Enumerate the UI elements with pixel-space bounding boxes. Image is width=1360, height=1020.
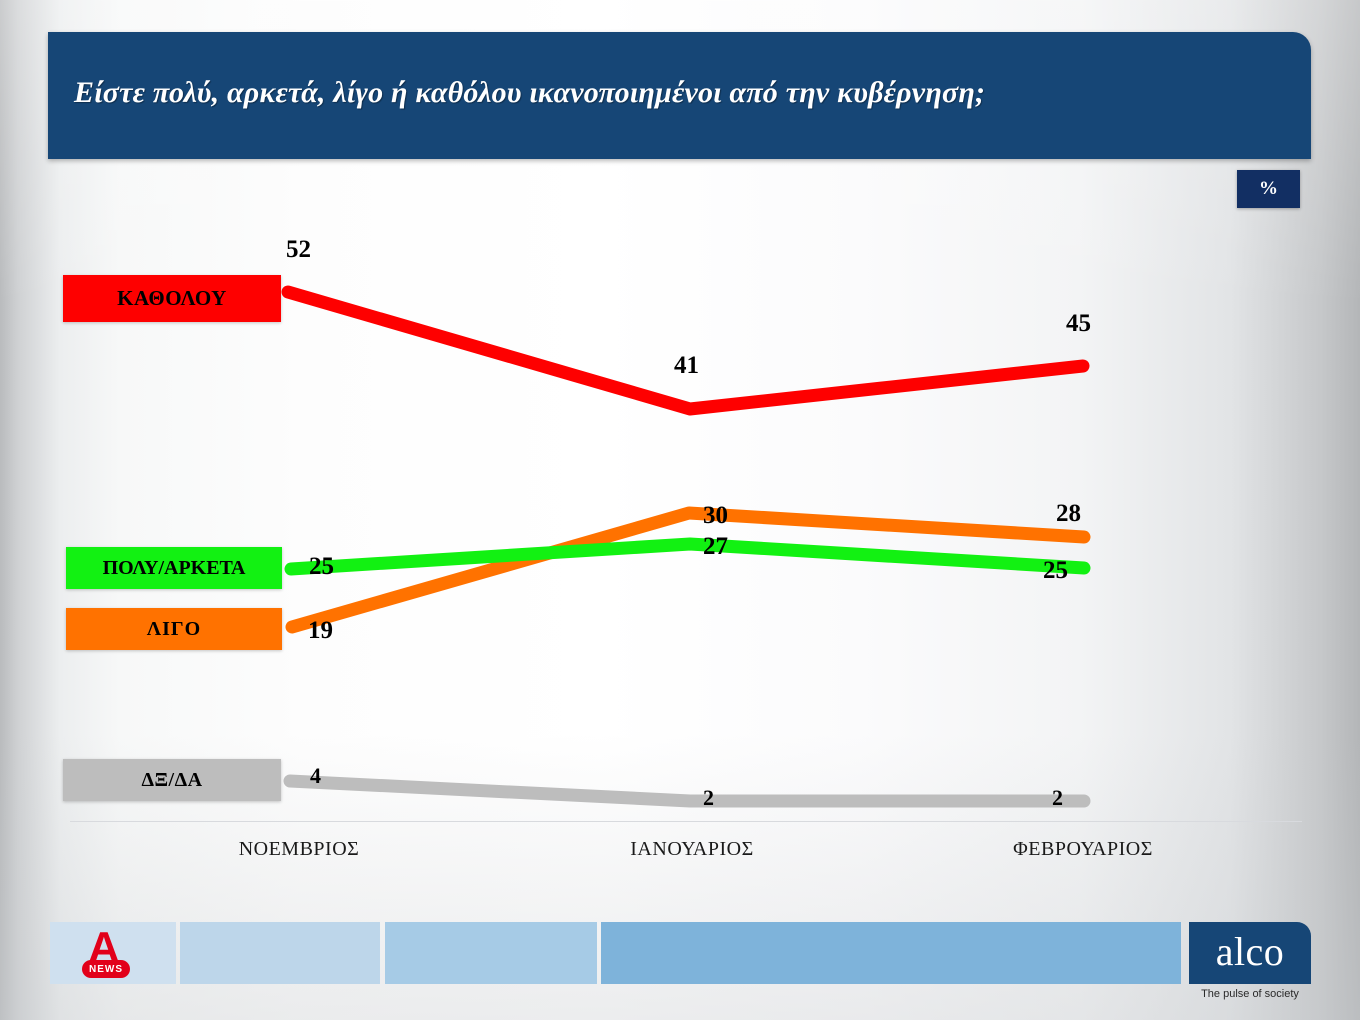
- page-title: Είστε πολύ, αρκετά, λίγο ή καθόλου ικανο…: [74, 76, 1291, 110]
- footer-bar-2: [180, 922, 380, 984]
- unit-badge: %: [1237, 170, 1300, 208]
- footer-bar-3: [385, 922, 597, 984]
- value-label-katholou-feb: 45: [1066, 310, 1091, 338]
- legend-label-ligo: ΛΙΓΟ: [147, 618, 201, 641]
- series-line-poly-arketa: [291, 544, 1084, 569]
- value-label-dxda-jan: 2: [703, 785, 714, 811]
- legend-label-katholou: ΚΑΘΟΛΟΥ: [117, 286, 227, 311]
- slide-canvas: Είστε πολύ, αρκετά, λίγο ή καθόλου ικανο…: [0, 0, 1360, 1020]
- legend-label-dxda: ΔΞ/ΔΑ: [141, 769, 202, 792]
- series-line-ligo: [292, 513, 1084, 627]
- axis-baseline: [70, 821, 1302, 822]
- anews-news-badge: NEWS: [82, 960, 130, 978]
- x-axis-label-fevrouarios: ΦΕΒΡΟΥΑΡΙΟΣ: [1013, 838, 1153, 861]
- footer-bar-4: [601, 922, 1181, 984]
- value-label-ligo-nov: 19: [308, 617, 333, 645]
- value-label-dxda-feb: 2: [1052, 785, 1063, 811]
- value-label-poly-nov: 25: [309, 553, 334, 581]
- legend-chip-dxda[interactable]: ΔΞ/ΔΑ: [63, 759, 281, 801]
- legend-chip-ligo[interactable]: ΛΙΓΟ: [66, 608, 282, 650]
- value-label-katholou-jan: 41: [674, 352, 699, 380]
- legend-chip-poly-arketa[interactable]: ΠΟΛΥ/ΑΡΚΕΤΑ: [66, 547, 282, 589]
- series-line-dxda: [290, 781, 1084, 801]
- value-label-katholou-nov: 52: [286, 236, 311, 264]
- x-axis-label-noemvrios: ΝΟΕΜΒΡΙΟΣ: [239, 838, 360, 861]
- x-axis-label-ianouarios: ΙΑΝΟΥΑΡΙΟΣ: [630, 838, 753, 861]
- value-label-ligo-jan: 30: [703, 502, 728, 530]
- alco-logo-text: alco: [1189, 928, 1311, 976]
- anews-logo: A NEWS: [74, 928, 148, 980]
- legend-chip-katholou[interactable]: ΚΑΘΟΛΟΥ: [63, 275, 281, 322]
- legend-label-poly-arketa: ΠΟΛΥ/ΑΡΚΕΤΑ: [103, 557, 246, 580]
- title-banner: Είστε πολύ, αρκετά, λίγο ή καθόλου ικανο…: [48, 32, 1311, 159]
- alco-tagline: The pulse of society: [1189, 988, 1311, 1000]
- value-label-poly-feb: 25: [1043, 557, 1068, 585]
- value-label-poly-jan: 27: [703, 533, 728, 561]
- value-label-ligo-feb: 28: [1056, 500, 1081, 528]
- alco-logo: alco: [1189, 922, 1311, 984]
- series-line-katholou: [288, 292, 1083, 409]
- value-label-dxda-nov: 4: [310, 763, 321, 789]
